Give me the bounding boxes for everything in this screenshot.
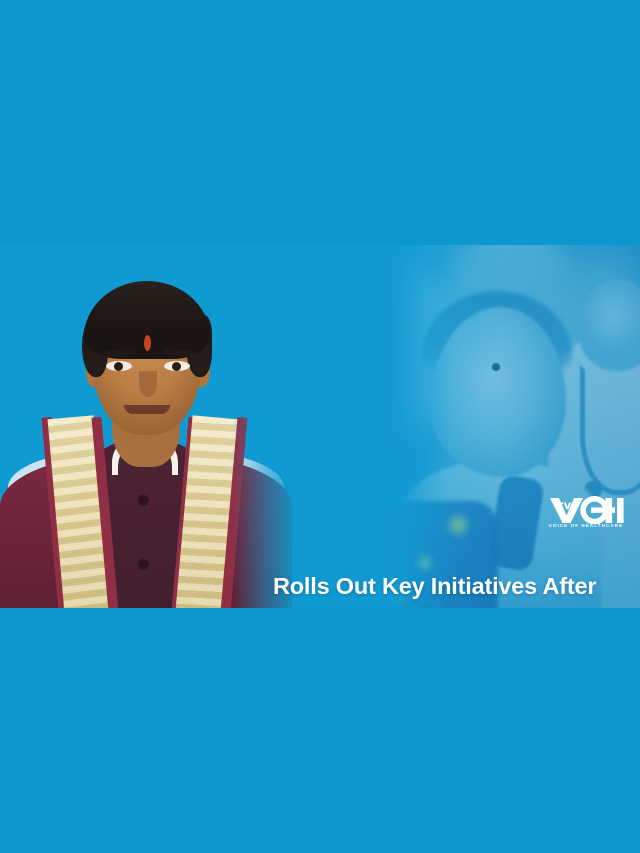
voh-wordmark-icon: [548, 496, 624, 524]
portrait-eye: [164, 361, 190, 371]
headline-text: Rolls Out Key Initiatives After Reviewin…: [273, 571, 619, 608]
photo-left-fade: [330, 245, 450, 608]
voh-logo: VOICE OF HEALTHCARE: [548, 496, 624, 536]
voh-tagline: VOICE OF HEALTHCARE: [548, 523, 624, 529]
portrait-nose: [139, 371, 157, 397]
portrait-right-fade: [232, 253, 302, 608]
portrait-mouth: [124, 405, 170, 414]
news-banner: Rolls Out Key Initiatives After Reviewin…: [0, 245, 640, 608]
kurta-button: [138, 495, 149, 506]
portrait-of-minister: [0, 253, 292, 608]
kurta-button: [138, 559, 149, 570]
page-canvas: Rolls Out Key Initiatives After Reviewin…: [0, 0, 640, 853]
tilak-mark: [144, 335, 151, 351]
portrait-eye: [106, 361, 132, 371]
